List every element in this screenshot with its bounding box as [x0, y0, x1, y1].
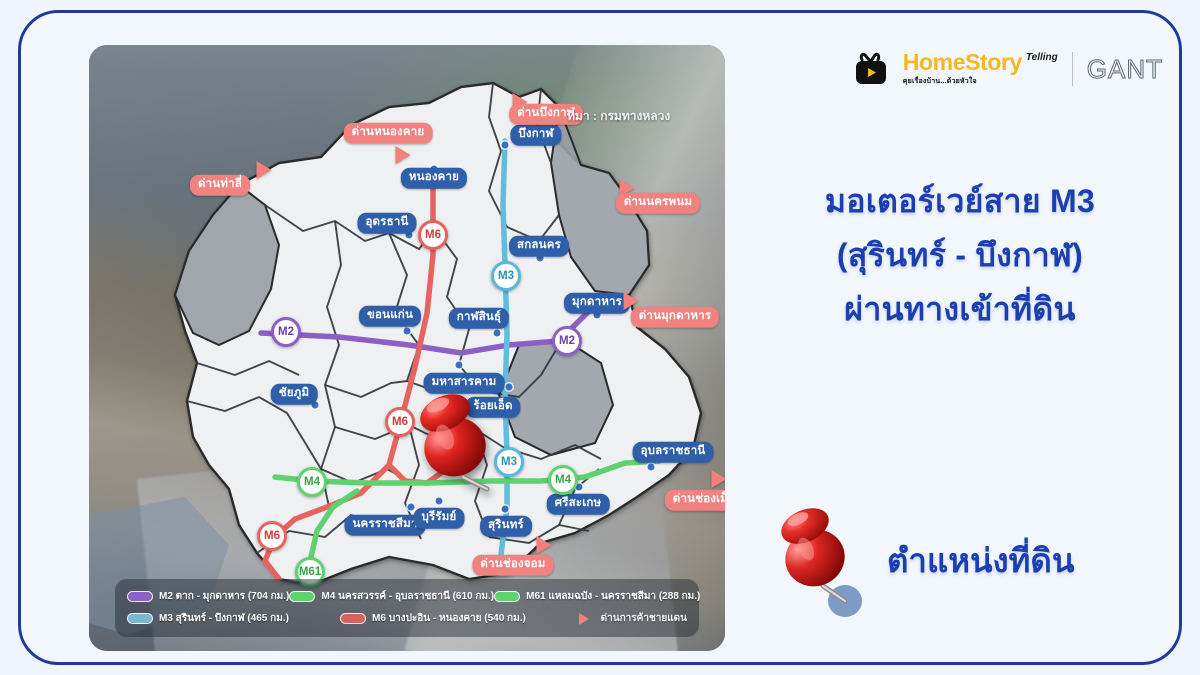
- map-label-province: บุรีรัมย์: [414, 508, 465, 529]
- city-dot: [404, 328, 411, 335]
- city-dot: [408, 504, 415, 511]
- brand-divider: [1072, 52, 1073, 86]
- legend-label-m3: M3 สุรินทร์ - บึงกาฬ (465 กม.): [159, 611, 289, 626]
- legend-label-m4: M4 นครสวรรค์ - อุบลราชธานี (610 กม.): [321, 589, 494, 604]
- legend-item-m3: M3 สุรินทร์ - บึงกาฬ (465 กม.): [127, 611, 340, 626]
- headline-line-1: มอเตอร์เวย์สาย M3: [745, 175, 1175, 229]
- legend-item-m61: M61 แหลมฉบัง - นครราชสีมา (288 กม.): [494, 589, 700, 604]
- legend-swatch-m2: [127, 591, 153, 602]
- map-legend: M2 ตาก - มุกดาหาร (704 กม.) M4 นครสวรรค์…: [115, 579, 699, 637]
- city-dot: [456, 362, 463, 369]
- map-label-border: ด่านมุกดาหาร: [631, 307, 719, 328]
- map-label-province: อุบลราชธานี: [633, 442, 714, 463]
- legend-item-m4: M4 นครสวรรค์ - อุบลราชธานี (610 กม.): [289, 589, 494, 604]
- homestory-wordmark: HomeStory Telling คุยเรื่องบ้าน...ด้วยหั…: [903, 51, 1058, 87]
- motorway-map-image: หนองคาย อุดรธานี บึงกาฬ สกลนคร ขอนแก่น ก…: [89, 45, 725, 651]
- route-badge-m3: M3: [491, 261, 521, 291]
- headline-line-2: (สุรินทร์ - บึงกาฬ): [745, 229, 1175, 283]
- border-crossing-icon: [579, 613, 589, 625]
- map-label-province: สุรินทร์: [480, 516, 532, 537]
- border-crossing-icon: [712, 470, 726, 488]
- route-badge-m6: M6: [257, 521, 287, 551]
- legend-row: M3 สุรินทร์ - บึงกาฬ (465 กม.) M6 บางปะอ…: [127, 611, 687, 626]
- map-label-province: สกลนคร: [509, 236, 569, 257]
- land-location-callout: ตำแหน่งที่ดิน: [765, 500, 1175, 620]
- legend-item-border: ด่านการค้าชายแดน: [579, 611, 687, 626]
- map-label-border: ด่านช่องเม็ก: [665, 490, 725, 511]
- city-dot: [494, 330, 501, 337]
- city-dot: [648, 464, 655, 471]
- slide-frame: หนองคาย อุดรธานี บึงกาฬ สกลนคร ขอนแก่น ก…: [18, 10, 1182, 665]
- map-label-border: ด่านท่าลี่: [190, 175, 250, 196]
- brand-name: HomeStory: [903, 51, 1022, 74]
- brand-tagline: คุยเรื่องบ้าน...ด้วยหัวใจ: [903, 76, 977, 87]
- route-badge-m2: M2: [271, 317, 301, 347]
- map-label-province: อุดรธานี: [357, 213, 416, 234]
- partner-logo-gant: GANT: [1087, 54, 1163, 85]
- legend-label-m6: M6 บางปะอิน - หนองคาย (540 กม.): [372, 611, 526, 626]
- legend-label-border: ด่านการค้าชายแดน: [601, 611, 687, 626]
- legend-item-m6: M6 บางปะอิน - หนองคาย (540 กม.): [340, 611, 579, 626]
- legend-item-m2: M2 ตาก - มุกดาหาร (704 กม.): [127, 589, 289, 604]
- city-dot: [502, 506, 509, 513]
- map-label-province: กาฬสินธุ์: [449, 308, 509, 329]
- legend-swatch-m6: [340, 613, 366, 624]
- legend-row: M2 ตาก - มุกดาหาร (704 กม.) M4 นครสวรรค์…: [127, 589, 687, 604]
- city-dot: [436, 498, 443, 505]
- map-source-note: ที่มา : กรมทางหลวง: [567, 107, 670, 126]
- route-badge-m4: M4: [297, 467, 327, 497]
- legend-label-m2: M2 ตาก - มุกดาหาร (704 กม.): [159, 589, 289, 604]
- map-label-province: มุกดาหาร: [564, 293, 630, 314]
- route-badge-m4: M4: [548, 465, 578, 495]
- route-badge-m6: M6: [418, 220, 448, 250]
- brand-lockup: HomeStory Telling คุยเรื่องบ้าน...ด้วยหั…: [853, 51, 1163, 87]
- map-label-border: ด่านช่องจอม: [472, 555, 553, 576]
- border-crossing-icon: [537, 536, 552, 554]
- city-dot: [506, 384, 513, 391]
- border-crossing-icon: [396, 146, 411, 164]
- headline-line-3: ผ่านทางเข้าที่ดิน: [745, 283, 1175, 337]
- slide-canvas: หนองคาย อุดรธานี บึงกาฬ สกลนคร ขอนแก่น ก…: [0, 0, 1200, 675]
- city-dot: [502, 142, 509, 149]
- red-pushpin-icon: [765, 500, 873, 620]
- land-location-pin-marker: [409, 385, 505, 497]
- tv-play-icon: [853, 51, 889, 87]
- brand-telling-label: Telling: [1026, 52, 1058, 63]
- map-label-province: หนองคาย: [401, 168, 467, 189]
- map-label-border: ด่านนครพนม: [616, 193, 700, 214]
- content-column: HomeStory Telling คุยเรื่องบ้าน...ด้วยหั…: [745, 45, 1175, 651]
- border-crossing-icon: [257, 161, 272, 179]
- legend-swatch-m61: [494, 591, 520, 602]
- route-badge-m2: M2: [552, 326, 582, 356]
- land-location-label: ตำแหน่งที่ดิน: [887, 534, 1074, 587]
- legend-swatch-m3: [127, 613, 153, 624]
- map-label-border: ด่านหนองคาย: [344, 123, 433, 144]
- map-label-province: ชัยภูมิ: [271, 384, 318, 405]
- page-title: มอเตอร์เวย์สาย M3 (สุรินทร์ - บึงกาฬ) ผ่…: [745, 175, 1175, 336]
- map-label-province: ศรีสะเกษ: [547, 494, 610, 515]
- map-label-province: ขอนแก่น: [359, 306, 421, 327]
- legend-label-m61: M61 แหลมฉบัง - นครราชสีมา (288 กม.): [526, 589, 700, 604]
- legend-swatch-m4: [289, 591, 315, 602]
- map-label-province: บึงกาฬ: [510, 125, 561, 146]
